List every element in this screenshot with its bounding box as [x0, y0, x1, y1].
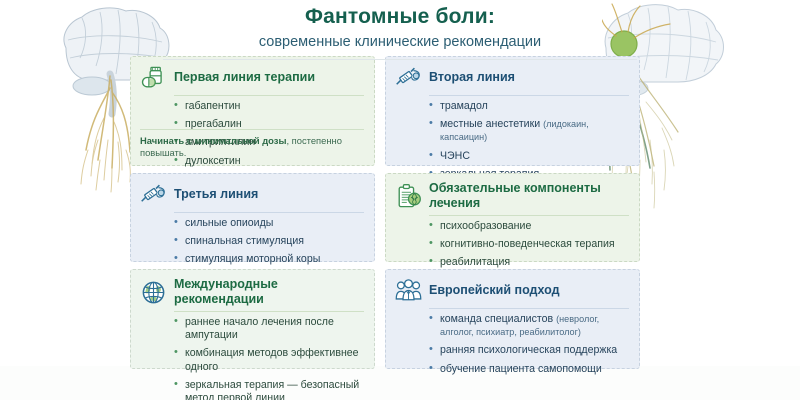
card-row-3: Международные рекомендации раннее начало… — [130, 269, 640, 369]
card-bullet-list: сильные опиоиды спинальная стимуляция ст… — [174, 217, 364, 267]
card-heading-rule — [174, 212, 364, 213]
card-international-guidelines[interactable]: Международные рекомендации раннее начало… — [130, 269, 375, 369]
card-footer-note: Начинать с минимальной дозы, постепенно … — [140, 129, 364, 159]
list-item: трамадол — [429, 100, 629, 113]
card-bullet-list: команда специалистов (невролог, алголог,… — [429, 313, 629, 376]
list-item: стимуляция моторной коры — [174, 253, 364, 266]
card-row-1: Первая линия терапии габапентин прегабал… — [130, 56, 640, 166]
card-title: Первая линия терапии — [174, 70, 315, 85]
infographic-page: Фантомные боли: современные клинические … — [0, 0, 800, 400]
card-mandatory-components[interactable]: Обязательные компоненты лечения психообр… — [385, 173, 640, 262]
card-heading-rule — [429, 215, 629, 216]
clipboard-brain-icon — [395, 183, 422, 210]
list-item: команда специалистов (невролог, алголог,… — [429, 313, 629, 339]
list-item: ЧЭНС — [429, 150, 629, 163]
card-header: Обязательные компоненты лечения — [395, 181, 629, 215]
syringe-icon — [140, 181, 167, 208]
card-header: Вторая линия — [395, 64, 629, 95]
card-row-2: Третья линия сильные опиоиды спинальная … — [130, 173, 640, 262]
card-header: Европейский подход — [395, 277, 629, 308]
list-item: спинальная стимуляция — [174, 235, 364, 248]
card-bullet-list: трамадол местные анестетики (лидокаин, к… — [429, 100, 629, 181]
list-item: местные анестетики (лидокаин, капсаицин) — [429, 118, 629, 144]
card-grid: Первая линия терапии габапентин прегабал… — [130, 56, 640, 369]
pill-bottle-icon — [140, 64, 167, 91]
card-heading-rule — [174, 311, 364, 312]
card-title: Третья линия — [174, 187, 258, 202]
card-european-approach[interactable]: Европейский подход команда специалистов … — [385, 269, 640, 369]
card-heading-rule — [429, 95, 629, 96]
card-third-line[interactable]: Третья линия сильные опиоиды спинальная … — [130, 173, 375, 262]
card-header: Международные рекомендации — [140, 277, 364, 311]
list-item: комбинация методов эффективнее одного — [174, 347, 364, 373]
page-subtitle: современные клинические рекомендации — [0, 31, 800, 53]
page-header: Фантомные боли: современные клинические … — [0, 4, 800, 60]
list-item: психообразование — [429, 220, 629, 233]
card-bullet-list: раннее начало лечения после ампутации ко… — [174, 316, 364, 400]
syringe-icon — [395, 64, 422, 91]
card-header: Третья линия — [140, 181, 364, 212]
card-title: Вторая линия — [429, 70, 515, 85]
list-item: раннее начало лечения после ампутации — [174, 316, 364, 342]
list-item: зеркальная терапия — безопасный метод пе… — [174, 379, 364, 400]
list-item: сильные опиоиды — [174, 217, 364, 230]
list-item: габапентин — [174, 100, 364, 113]
globe-icon — [140, 279, 167, 306]
card-first-line-therapy[interactable]: Первая линия терапии габапентин прегабал… — [130, 56, 375, 166]
footer-emphasis: Начинать с минимальной дозы — [140, 135, 286, 146]
list-item: ранняя психологическая поддержка — [429, 344, 629, 357]
list-item: реабилитация — [429, 256, 629, 269]
list-item: когнитивно-поведенческая терапия — [429, 238, 629, 251]
card-title: Международные рекомендации — [174, 277, 364, 307]
card-title: Европейский подход — [429, 283, 560, 298]
card-second-line[interactable]: Вторая линия трамадол местные анестетики… — [385, 56, 640, 166]
list-item: обучение пациента самопомощи — [429, 363, 629, 376]
card-heading-rule — [174, 95, 364, 96]
team-icon — [395, 277, 422, 304]
card-heading-rule — [429, 308, 629, 309]
card-title: Обязательные компоненты лечения — [429, 181, 629, 211]
card-header: Первая линия терапии — [140, 64, 364, 95]
page-title: Фантомные боли: — [0, 4, 800, 30]
header-divider — [163, 59, 637, 60]
